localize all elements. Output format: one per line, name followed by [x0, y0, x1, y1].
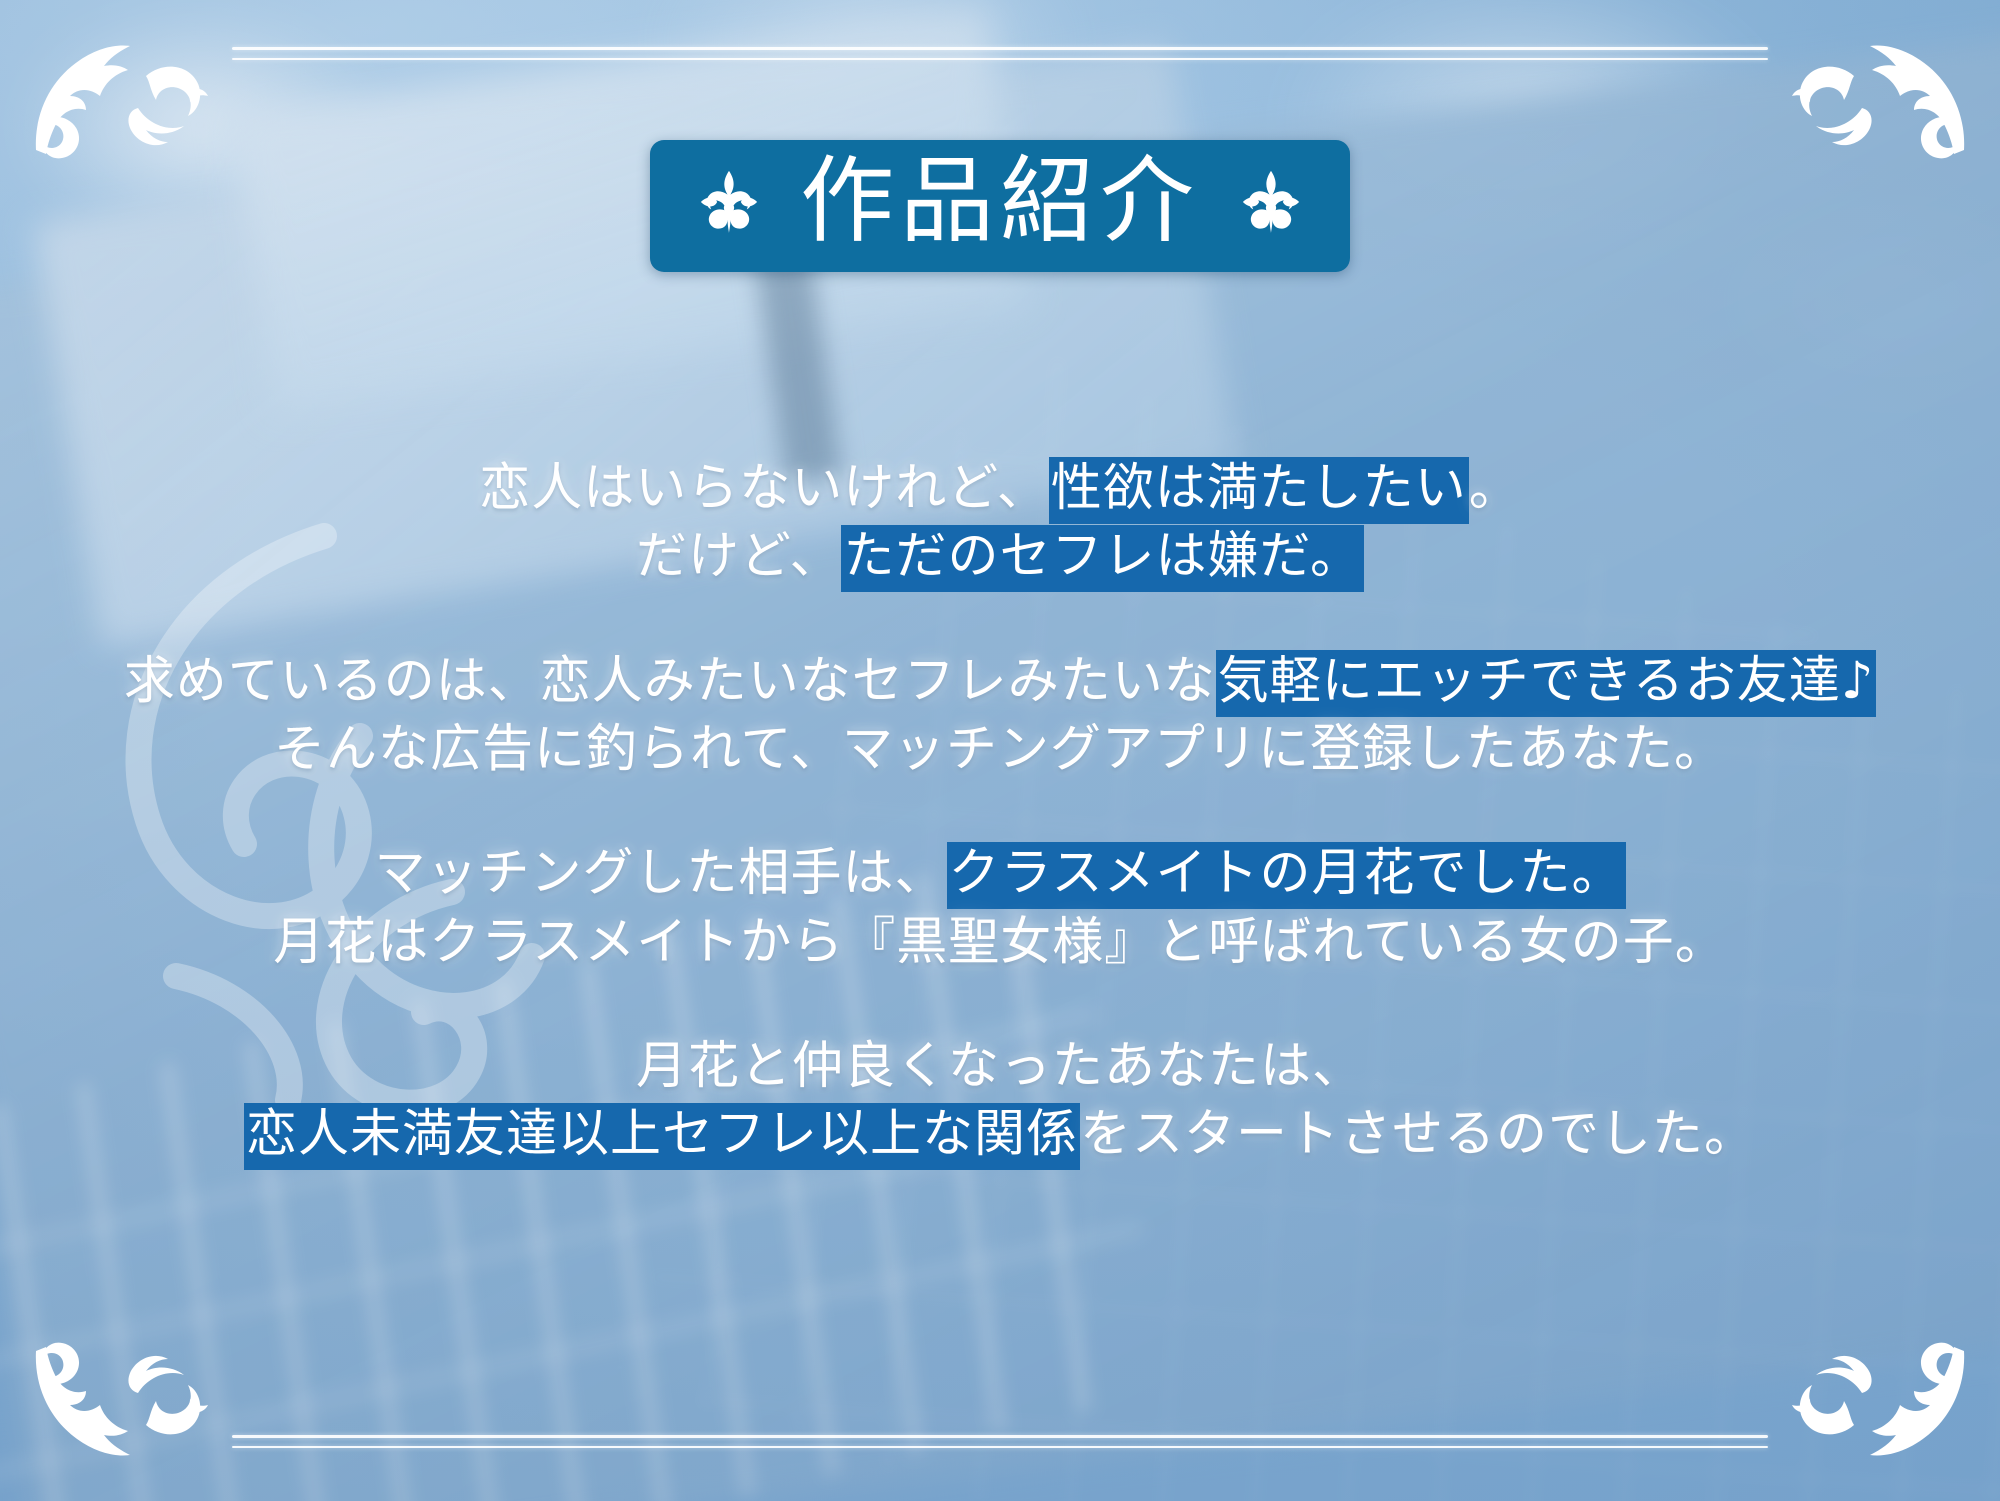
rule-line — [232, 1435, 1768, 1438]
rule-line — [232, 1446, 1768, 1448]
description-line: 求めているのは、恋人みたいなセフレみたいな気軽にエッチできるお友達♪ — [0, 648, 2000, 716]
rule-top — [232, 47, 1768, 61]
description-line: 恋人はいらないけれど、性欲は満たしたい。 — [0, 455, 2000, 523]
highlighted-text: ただのセフレは嫌だ。 — [841, 525, 1363, 592]
plain-text: マッチングした相手は、 — [375, 844, 947, 903]
highlighted-text: クラスメイトの月花でした。 — [947, 842, 1626, 909]
description-paragraph: 月花と仲良くなったあなたは、恋人未満友達以上セフレ以上な関係をスタートさせるので… — [0, 1033, 2000, 1170]
highlighted-text: 性欲は満たしたい — [1049, 457, 1469, 524]
corner-flourish-bottom-right — [1772, 1339, 1982, 1479]
description-body: 恋人はいらないけれど、性欲は満たしたい。だけど、ただのセフレは嫌だ。求めているの… — [0, 455, 2000, 1170]
description-line: だけど、ただのセフレは嫌だ。 — [0, 523, 2000, 591]
description-line: 月花と仲良くなったあなたは、 — [0, 1033, 2000, 1101]
corner-flourish-top-left — [18, 22, 228, 162]
description-line: 恋人未満友達以上セフレ以上な関係をスタートさせるのでした。 — [0, 1101, 2000, 1169]
rule-line — [232, 47, 1768, 50]
description-line: マッチングした相手は、クラスメイトの月花でした。 — [0, 840, 2000, 908]
page-title: 作品紹介 — [800, 154, 1200, 250]
rule-bottom — [232, 1435, 1768, 1449]
plain-text: そんな広告に釣られて、マッチングアプリに登録したあなた。 — [274, 720, 1726, 779]
plain-text: 。 — [1469, 459, 1521, 518]
plain-text: 月花と仲良くなったあなたは、 — [636, 1037, 1364, 1096]
plain-text: 恋人はいらないけれど、 — [479, 459, 1048, 518]
rule-line — [232, 58, 1768, 60]
description-line: そんな広告に釣られて、マッチングアプリに登録したあなた。 — [0, 716, 2000, 784]
highlighted-text: 恋人未満友達以上セフレ以上な関係 — [244, 1103, 1080, 1170]
highlighted-text: 気軽にエッチできるお友達♪ — [1216, 650, 1877, 717]
promo-slide: 作品紹介 恋人はいらないけれど、性欲は満たしたい。だけど、ただのセフレは嫌だ。求… — [0, 0, 2000, 1501]
fleuron-ornament-left-icon — [692, 165, 766, 239]
description-paragraph: 求めているのは、恋人みたいなセフレみたいな気軽にエッチできるお友達♪そんな広告に… — [0, 648, 2000, 785]
plain-text: をスタートさせるのでした。 — [1080, 1105, 1756, 1164]
corner-flourish-bottom-left — [18, 1339, 228, 1479]
description-line: 月花はクラスメイトから『黒聖女様』と呼ばれている女の子。 — [0, 909, 2000, 977]
title-banner: 作品紹介 — [650, 140, 1350, 272]
plain-text: だけど、 — [636, 527, 841, 586]
description-paragraph: 恋人はいらないけれど、性欲は満たしたい。だけど、ただのセフレは嫌だ。 — [0, 455, 2000, 592]
corner-flourish-top-right — [1772, 22, 1982, 162]
fleuron-ornament-right-icon — [1234, 165, 1308, 239]
plain-text: 月花はクラスメイトから『黒聖女様』と呼ばれている女の子。 — [273, 913, 1726, 972]
plain-text: 求めているのは、恋人みたいなセフレみたいな — [124, 652, 1216, 711]
description-paragraph: マッチングした相手は、クラスメイトの月花でした。月花はクラスメイトから『黒聖女様… — [0, 840, 2000, 977]
